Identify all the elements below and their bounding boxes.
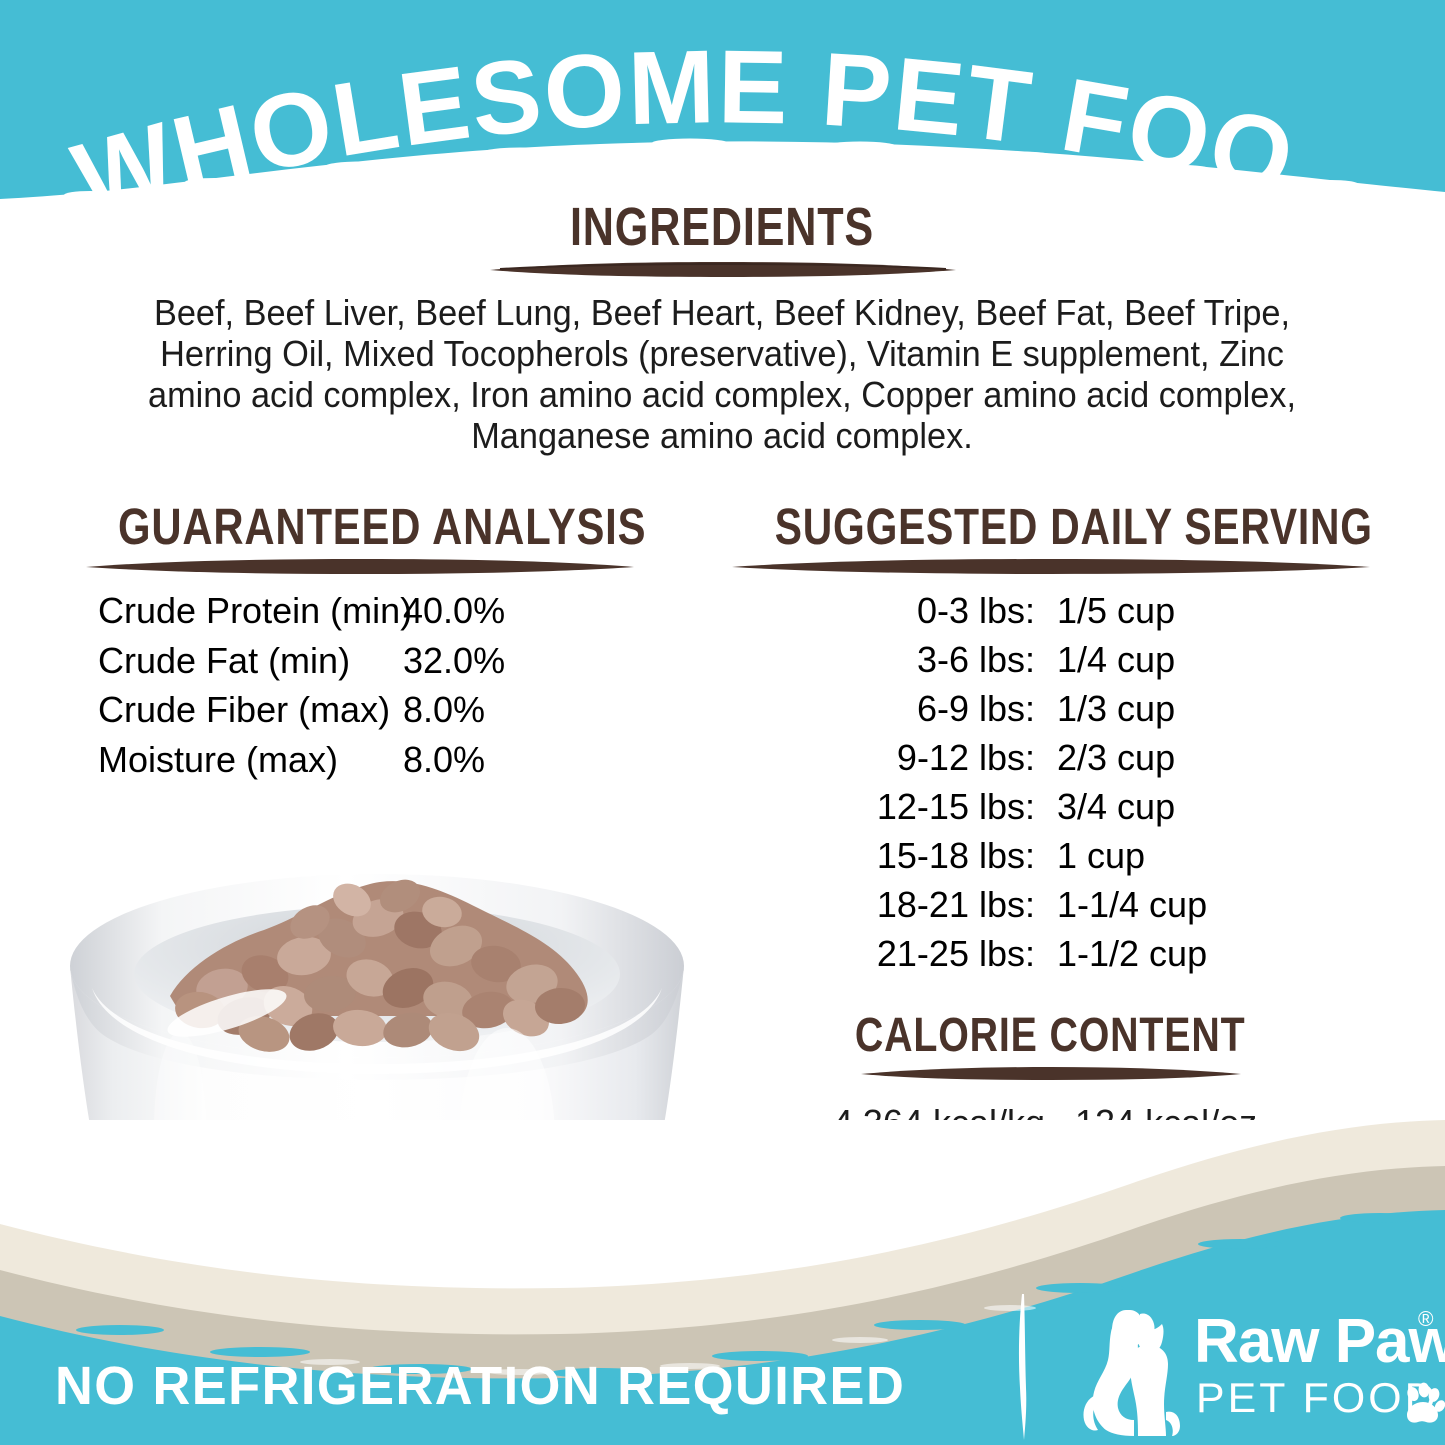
ingredients-brush-underline — [482, 258, 964, 280]
suggested-daily-serving-heading: SUGGESTED DAILY SERVING — [700, 497, 1400, 556]
analysis-value: 32.0% — [403, 636, 505, 686]
analysis-label: Crude Fat (min) — [98, 636, 403, 686]
ingredients-text: Beef, Beef Liver, Beef Lung, Beef Heart,… — [111, 292, 1333, 456]
guaranteed-analysis-table: Crude Protein (min)40.0%Crude Fat (min)3… — [98, 586, 658, 784]
serving-weight: 3-6 lbs: — [775, 635, 1035, 684]
paw-print-icon — [1400, 1382, 1445, 1428]
analysis-label: Crude Fiber (max) — [98, 685, 403, 735]
guaranteed-analysis-row: Crude Fiber (max)8.0% — [98, 685, 658, 735]
calorie-content-brush-underline — [856, 1064, 1246, 1082]
brand-name: Raw Paws — [1194, 1306, 1445, 1377]
guaranteed-analysis-row: Crude Protein (min)40.0% — [98, 586, 658, 636]
serving-row: 6-9 lbs:1/3 cup — [775, 684, 1335, 733]
analysis-value: 8.0% — [403, 735, 485, 785]
serving-row: 3-6 lbs:1/4 cup — [775, 635, 1335, 684]
no-refrigeration-tagline: NO REFRIGERATION REQUIRED — [55, 1355, 905, 1417]
ingredients-heading: INGREDIENTS — [0, 196, 1445, 258]
suggested-daily-serving-brush-underline — [726, 556, 1376, 576]
serving-amount: 1-1/4 cup — [1035, 880, 1207, 929]
serving-row: 0-3 lbs:1/5 cup — [775, 586, 1335, 635]
serving-weight: 18-21 lbs: — [775, 880, 1035, 929]
serving-amount: 1-1/2 cup — [1035, 929, 1207, 978]
suggested-daily-serving-table: 0-3 lbs:1/5 cup3-6 lbs:1/4 cup6-9 lbs:1/… — [775, 586, 1335, 978]
serving-amount: 1/3 cup — [1035, 684, 1175, 733]
serving-amount: 1/5 cup — [1035, 586, 1175, 635]
serving-amount: 1/4 cup — [1035, 635, 1175, 684]
serving-weight: 0-3 lbs: — [775, 586, 1035, 635]
serving-weight: 9-12 lbs: — [775, 733, 1035, 782]
analysis-label: Moisture (max) — [98, 735, 403, 785]
serving-amount: 3/4 cup — [1035, 782, 1175, 831]
analysis-value: 8.0% — [403, 685, 485, 735]
serving-weight: 6-9 lbs: — [775, 684, 1035, 733]
serving-amount: 1 cup — [1035, 831, 1145, 880]
brand-logo: Raw Paws ® PET FOOD — [1082, 1300, 1432, 1440]
analysis-label: Crude Protein (min) — [98, 586, 403, 636]
guaranteed-analysis-heading: GUARANTEED ANALYSIS — [60, 497, 660, 556]
serving-row: 15-18 lbs:1 cup — [775, 831, 1335, 880]
guaranteed-analysis-row: Crude Fat (min)32.0% — [98, 636, 658, 686]
serving-row: 18-21 lbs:1-1/4 cup — [775, 880, 1335, 929]
dog-and-cat-icon — [1082, 1300, 1192, 1440]
serving-row: 12-15 lbs:3/4 cup — [775, 782, 1335, 831]
registered-trademark-icon: ® — [1418, 1308, 1433, 1332]
serving-weight: 21-25 lbs: — [775, 929, 1035, 978]
guaranteed-analysis-row: Moisture (max)8.0% — [98, 735, 658, 785]
serving-weight: 12-15 lbs: — [775, 782, 1035, 831]
footer-divider — [1012, 1292, 1034, 1442]
guaranteed-analysis-brush-underline — [80, 556, 640, 576]
serving-amount: 2/3 cup — [1035, 733, 1175, 782]
serving-weight: 15-18 lbs: — [775, 831, 1035, 880]
calorie-content-heading: CALORIE CONTENT — [700, 1008, 1400, 1063]
serving-row: 9-12 lbs:2/3 cup — [775, 733, 1335, 782]
analysis-value: 40.0% — [403, 586, 505, 636]
product-label: WHOLESOME PET FOOD INGREDIENTS — [0, 0, 1445, 1445]
serving-row: 21-25 lbs:1-1/2 cup — [775, 929, 1335, 978]
